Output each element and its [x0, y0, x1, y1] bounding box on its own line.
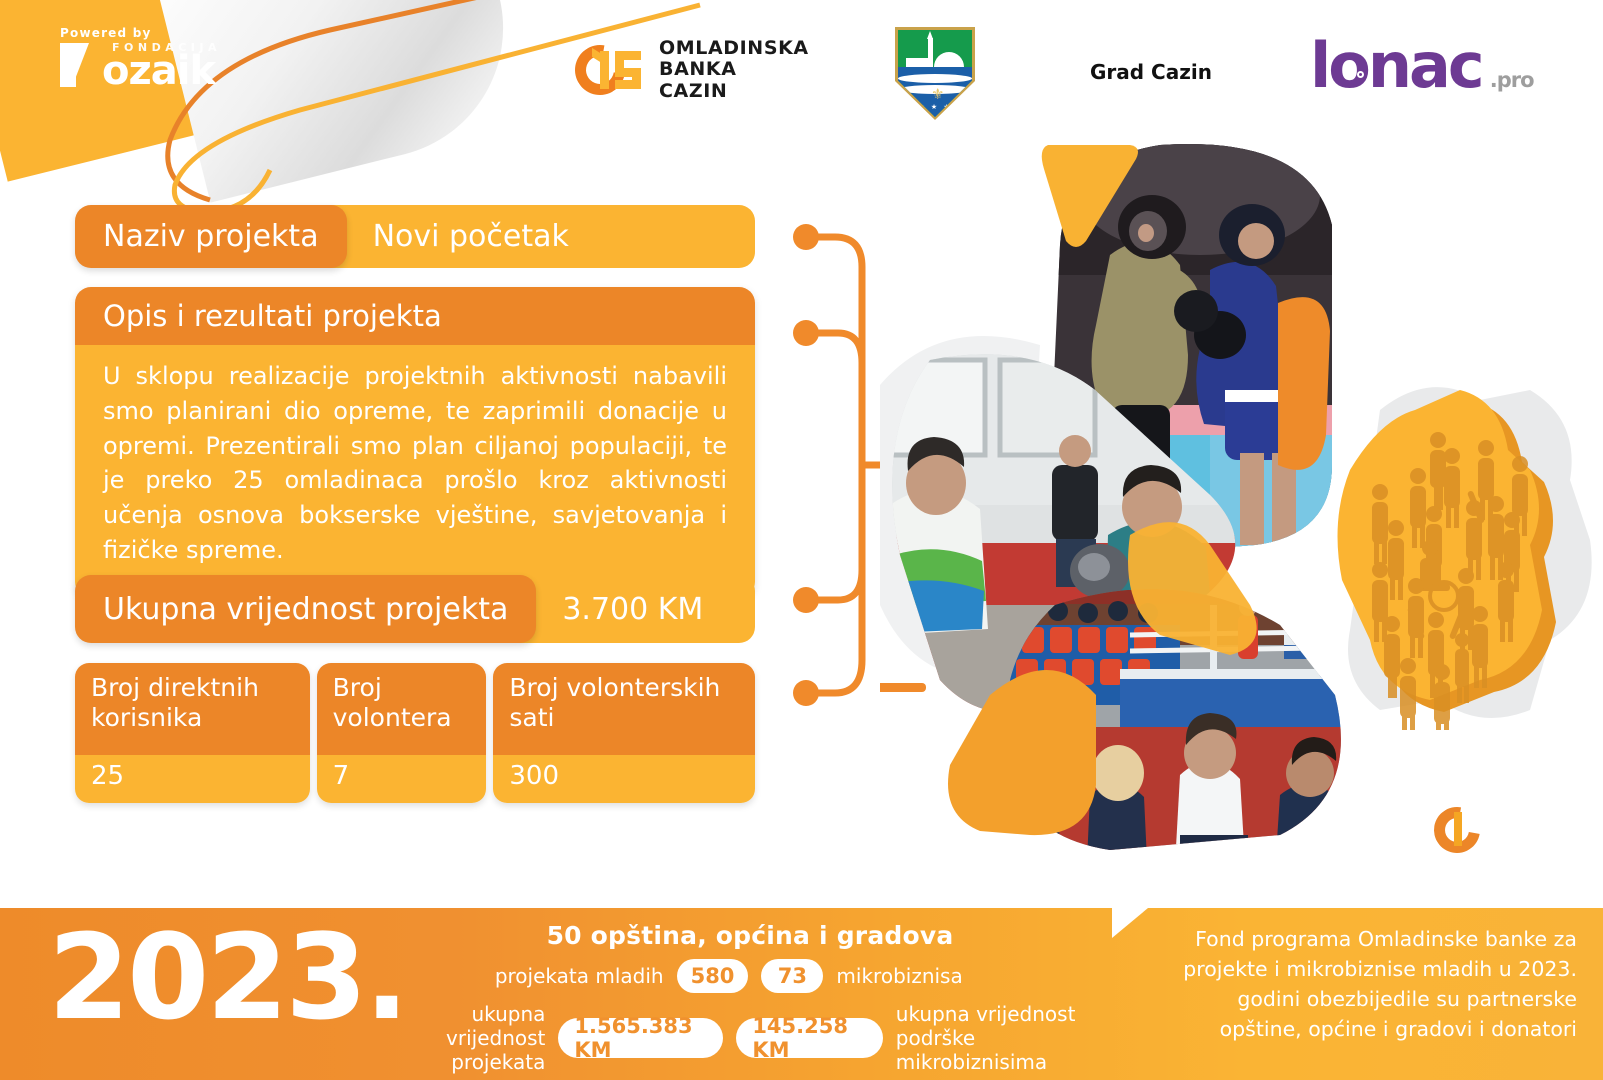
project-title-value: Novi početak — [329, 205, 755, 268]
lonac-wordmark: lonac — [1310, 29, 1482, 102]
stat-card-volunteers: Broj volontera 7 — [317, 663, 487, 803]
stat-value: 25 — [75, 755, 310, 803]
cazin-coat-of-arms-icon: ⚜ ★ ★ ★ ★ ★ — [895, 27, 975, 120]
project-title-row: Naziv projekta Novi početak — [75, 205, 755, 268]
footer-year: 2023. — [48, 918, 406, 1036]
fondacija-label: FONDACIJA — [112, 41, 221, 54]
microbusiness-value-badge: 145.258 KM — [736, 1018, 882, 1058]
bracket-dot-2 — [793, 320, 819, 346]
mozaik-logo: Powered by ozaik FONDACIJA — [60, 26, 240, 87]
mosa-year: 2023 — [1488, 881, 1544, 905]
mosa-letters-5a: 5A — [1432, 849, 1497, 905]
projects-value-badge: 1.565.383 KM — [558, 1018, 723, 1058]
stat-label: Broj volonterskih sati — [493, 663, 755, 755]
stat-card-direct-beneficiaries: Broj direktnih korisnika 25 — [75, 663, 310, 803]
projects-count-badge: 580 — [677, 959, 749, 993]
projects-label: projekata mladih — [486, 964, 664, 988]
footer-stats-group: 50 opština, općina i gradova projekata m… — [400, 915, 1100, 1074]
mosa-letter-m: M — [1390, 801, 1435, 857]
footer-stats-row-2: ukupna vrijednost projekata 1.565.383 KM… — [400, 1002, 1100, 1074]
project-value-row: Ukupna vrijednost projekta 3.700 KM — [75, 575, 755, 643]
stat-label: Broj volontera — [317, 663, 487, 755]
project-description-label: Opis i rezultati projekta — [75, 287, 755, 345]
lonac-pro-logo: lonac .pro — [1310, 35, 1482, 97]
powered-by-label: Powered by — [60, 26, 240, 40]
omladinska-banka-text: OMLADINSKA BANKA CAZIN — [659, 38, 809, 102]
mosa-logo: M 5A 2023 — [1390, 805, 1550, 885]
ob-line-3: CAZIN — [659, 81, 809, 102]
lonac-suffix: .pro — [1490, 70, 1534, 91]
bracket-dot-1 — [793, 224, 819, 250]
footer-stats-title: 50 opština, općina i gradova — [400, 921, 1100, 950]
project-value-label: Ukupna vrijednost projekta — [75, 575, 536, 643]
municipality-map-graphic — [1230, 380, 1603, 730]
project-stats-group: Broj direktnih korisnika 25 Broj volonte… — [75, 663, 755, 803]
ob-line-1: OMLADINSKA — [659, 38, 809, 59]
ob-line-2: BANKA — [659, 59, 809, 80]
stat-value: 300 — [493, 755, 755, 803]
project-description-card: Opis i rezultati projekta U sklopu reali… — [75, 287, 755, 598]
bracket-dot-3 — [793, 587, 819, 613]
microbusiness-value-label: ukupna vrijednost podrške mikrobiznisima — [896, 1002, 1100, 1074]
project-value-amount: 3.700 KM — [518, 575, 755, 643]
bracket-dot-4 — [793, 680, 819, 706]
project-description-text: U sklopu realizacije projektnih aktivnos… — [75, 345, 755, 598]
stat-label: Broj direktnih korisnika — [75, 663, 310, 755]
header-logo-bar: Powered by ozaik FONDACIJA OMLADINSKA BA… — [0, 0, 1603, 150]
footer-fund-text: Fond programa Omladinske banke za projek… — [1157, 925, 1577, 1045]
footer-stats-row-1: projekata mladih 580 73 mikrobiznisa — [400, 959, 1100, 993]
lonac-dot-right-icon — [1381, 91, 1388, 98]
stat-value: 7 — [317, 755, 487, 803]
project-title-label: Naziv projekta — [75, 205, 347, 268]
microbusiness-label: mikrobiznisa — [836, 964, 1014, 988]
stat-card-volunteer-hours: Broj volonterskih sati 300 — [493, 663, 755, 803]
omladinska-banka-logo: OMLADINSKA BANKA CAZIN — [575, 38, 809, 102]
grad-cazin-label: Grad Cazin — [1090, 60, 1212, 84]
accent-bar-left — [880, 683, 926, 692]
ob-15-icon — [575, 45, 645, 95]
microbusiness-count-badge: 73 — [761, 959, 823, 993]
projects-value-label: ukupna vrijednost projekata — [400, 1002, 545, 1074]
footer-notch-shape — [1112, 908, 1148, 938]
lonac-dot-left-icon — [1357, 71, 1364, 78]
mozaik-m-mark — [60, 43, 106, 87]
mosa-one-icon — [1454, 812, 1462, 846]
mozaik-wordmark: ozaik — [102, 53, 215, 89]
